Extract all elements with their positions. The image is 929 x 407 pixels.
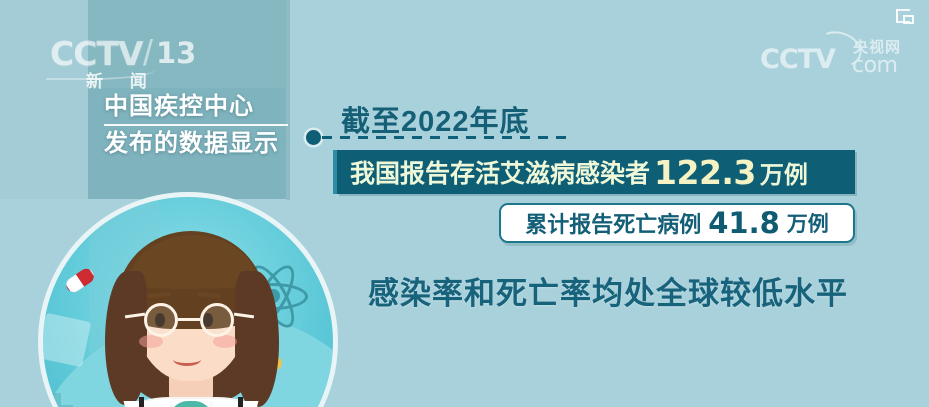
- doctor-glasses-icon: [134, 303, 250, 339]
- cctv-com-watermark: CCTV 央视网 com: [760, 36, 910, 80]
- primary-stat-value: 122.3: [654, 153, 756, 192]
- glasses-lens-left: [144, 303, 178, 337]
- watermark-tld: com: [852, 53, 898, 78]
- cctv-channel-subtitle: 新 闻: [86, 67, 158, 92]
- primary-stat-unit: 万例: [760, 155, 808, 190]
- lead-in-headline: 中国疾控中心 发布的数据显示: [104, 92, 304, 159]
- connector-dot: [306, 130, 321, 145]
- primary-stat-label: 我国报告存活艾滋病感染者: [350, 154, 650, 190]
- pip-inner-frame: [903, 15, 914, 24]
- secondary-stat-unit: 万例: [787, 208, 829, 238]
- secondary-stat-pill: 累计报告死亡病例 41.8 万例: [499, 203, 855, 243]
- stethoscope-tube-left: [139, 397, 183, 407]
- illustration-square-accent: [38, 313, 91, 368]
- glasses-lens-right: [200, 303, 234, 337]
- secondary-stat-label: 累计报告死亡病例: [525, 207, 701, 239]
- cctv13-channel-logo: CCTV / 13 新 闻: [50, 36, 230, 88]
- picture-in-picture-icon[interactable]: [896, 9, 916, 26]
- stethoscope-tube-right: [199, 397, 243, 407]
- lead-in-divider: [104, 124, 288, 126]
- doctor-mouth: [173, 353, 201, 366]
- doctor-illustration: [38, 192, 338, 407]
- glasses-bridge: [178, 318, 200, 321]
- secondary-stat-value: 41.8: [708, 206, 780, 240]
- illustration-disc: [38, 192, 338, 407]
- doctor-hair-right: [235, 271, 279, 407]
- medical-cross-icon: [39, 393, 73, 407]
- kicker-date: 截至2022年底: [341, 98, 530, 140]
- closing-statement: 感染率和死亡率均处全球较低水平: [368, 268, 848, 313]
- lead-in-line-2: 发布的数据显示: [104, 129, 304, 159]
- lead-in-line-1: 中国疾控中心: [104, 92, 304, 122]
- primary-stat-bar: 我国报告存活艾滋病感染者 122.3 万例: [337, 150, 855, 194]
- broadcast-frame: CCTV / 13 新 闻 中国疾控中心 发布的数据显示 截至2022年底 我国…: [0, 0, 929, 407]
- background-band-left: [0, 0, 88, 199]
- doctor-figure: [101, 225, 281, 407]
- cctv-channel-number: 13: [156, 36, 196, 70]
